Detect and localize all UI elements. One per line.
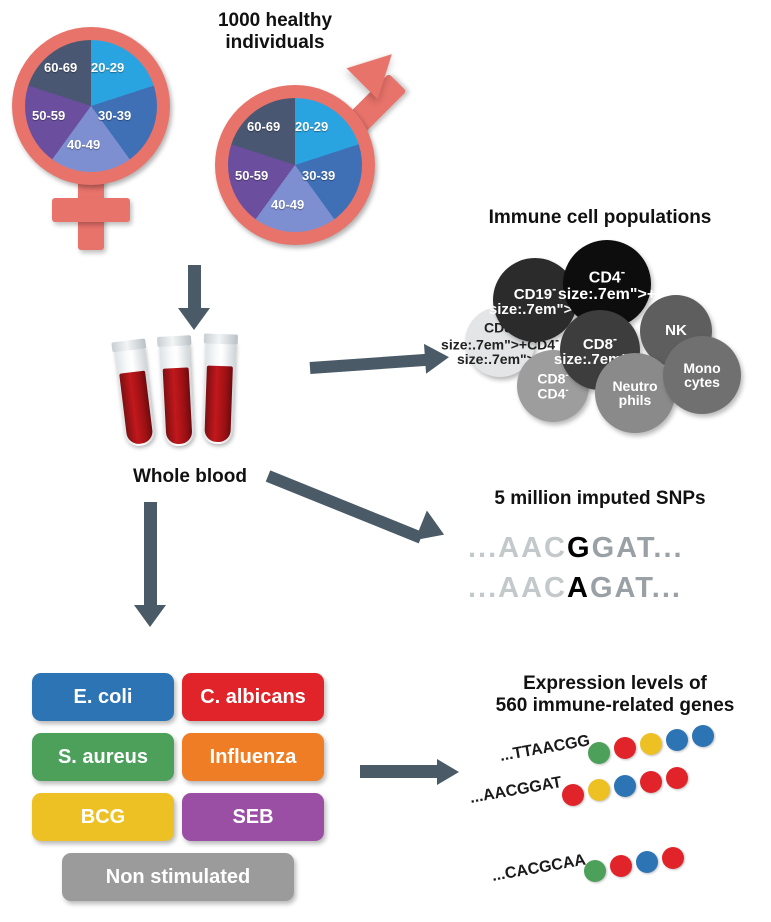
expression-bead [692, 725, 714, 747]
male-slice-label-30-39: 30-39 [302, 168, 335, 183]
female-slice-label-50-59: 50-59 [32, 108, 65, 123]
immune-bubble-label: CD4-size:.7em">+ [558, 265, 656, 303]
snp-top-prefix: ...AAC [468, 532, 567, 564]
expression-title-line2: 560 immune-related genes [470, 695, 760, 717]
female-crossbar [52, 198, 130, 222]
female-slice-label-30-39: 30-39 [98, 108, 131, 123]
expression-title: Expression levels of 560 immune-related … [470, 673, 760, 717]
immune-bubble-label: Neutrophils [612, 379, 657, 408]
expression-bead [588, 779, 610, 801]
stimulus-label: SEB [232, 806, 273, 829]
expression-bead [662, 847, 684, 869]
stimulus-seb[interactable]: SEB [182, 793, 324, 841]
arrow-cohort-to-blood-head [178, 308, 210, 330]
blood-tube-2 [159, 341, 194, 446]
stimulus-label: C. albicans [200, 686, 306, 709]
expression-strand-2-text: ...AACGGAT [468, 774, 563, 808]
snp-title: 5 million imputed SNPs [440, 488, 760, 510]
expression-bead [614, 737, 636, 759]
immune-bubbles: CD8-size:.7em">+CD4-size:.7em">+ CD8-CD4… [455, 240, 755, 420]
immune-bubble-label: CD8-CD4- [537, 371, 568, 401]
snp-bottom-suffix: GAT... [590, 572, 682, 604]
immune-bubble-neutrophils: Neutrophils [595, 353, 675, 433]
arrow-stimuli-to-expression-shaft [360, 765, 440, 778]
stimulus-influenza[interactable]: Influenza [182, 733, 324, 781]
snp-sequence-top: ...AACGGAT... [468, 532, 684, 565]
stimulus-label: Influenza [210, 746, 297, 769]
male-slice-label-40-49: 40-49 [271, 197, 304, 212]
tube-cap [157, 335, 191, 347]
arrow-blood-to-immune-shaft [310, 354, 431, 374]
arrow-cohort-to-blood-shaft [188, 265, 201, 313]
expression-bead [614, 775, 636, 797]
expression-bead [640, 771, 662, 793]
arrow-blood-to-snp-head [415, 510, 450, 549]
immune-title: Immune cell populations [440, 207, 760, 229]
male-slice-label-20-29: 20-29 [295, 119, 328, 134]
expression-bead [666, 767, 688, 789]
tube-cap [204, 333, 238, 344]
blood-tubes [110, 338, 270, 448]
tube-blood [204, 366, 233, 443]
stimulus-label: Non stimulated [106, 866, 250, 889]
female-slice-label-40-49: 40-49 [67, 137, 100, 152]
stimulus-non-stimulated[interactable]: Non stimulated [62, 853, 294, 901]
arrow-blood-to-stimuli-shaft [144, 502, 157, 610]
arrow-stimuli-to-expression-head [437, 759, 459, 785]
female-slice-label-60-69: 60-69 [44, 60, 77, 75]
whole-blood-label: Whole blood [90, 466, 290, 488]
male-slice-label-50-59: 50-59 [235, 168, 268, 183]
stimulus-label: S. aureus [58, 746, 148, 769]
blood-tube-1 [114, 345, 156, 448]
male-slice-label-60-69: 60-69 [247, 119, 280, 134]
immune-bubble-label: Monocytes [683, 361, 720, 390]
expression-strand-3-text: ...CACGCAA [490, 852, 587, 886]
stimulus-label: E. coli [74, 686, 133, 709]
expression-bead [640, 733, 662, 755]
expression-bead [610, 855, 632, 877]
snp-top-suffix: GAT... [592, 532, 684, 564]
stimulus-c-albicans[interactable]: C. albicans [182, 673, 324, 721]
immune-bubble-monocytes: Monocytes [663, 336, 741, 414]
stimulus-e-coli[interactable]: E. coli [32, 673, 174, 721]
female-symbol: 20-29 30-39 40-49 50-59 60-69 [5, 15, 205, 260]
stimulus-s-aureus[interactable]: S. aureus [32, 733, 174, 781]
immune-bubble-label: NK [665, 323, 687, 338]
expression-bead [562, 784, 584, 806]
female-slice-label-20-29: 20-29 [91, 60, 124, 75]
snp-top-variant: G [567, 532, 592, 564]
arrow-blood-to-snp-shaft [266, 470, 423, 543]
expression-bead [666, 729, 688, 751]
blood-tube-3 [202, 340, 236, 445]
expression-strand-1-text: ...TTAACGG [498, 732, 591, 766]
snp-sequence-bottom: ...AACAGAT... [468, 572, 682, 605]
arrow-blood-to-stimuli-head [134, 605, 166, 627]
expression-bead [636, 851, 658, 873]
snp-bottom-prefix: ...AAC [468, 572, 567, 604]
expression-bead [588, 742, 610, 764]
stimulus-label: BCG [81, 806, 125, 829]
stimulus-bcg[interactable]: BCG [32, 793, 174, 841]
male-symbol: 20-29 30-39 40-49 50-59 60-69 [205, 40, 420, 255]
tube-blood [163, 367, 193, 444]
expression-title-line1: Expression levels of [470, 673, 760, 695]
expression-bead [584, 860, 606, 882]
snp-bottom-variant: A [567, 572, 590, 604]
